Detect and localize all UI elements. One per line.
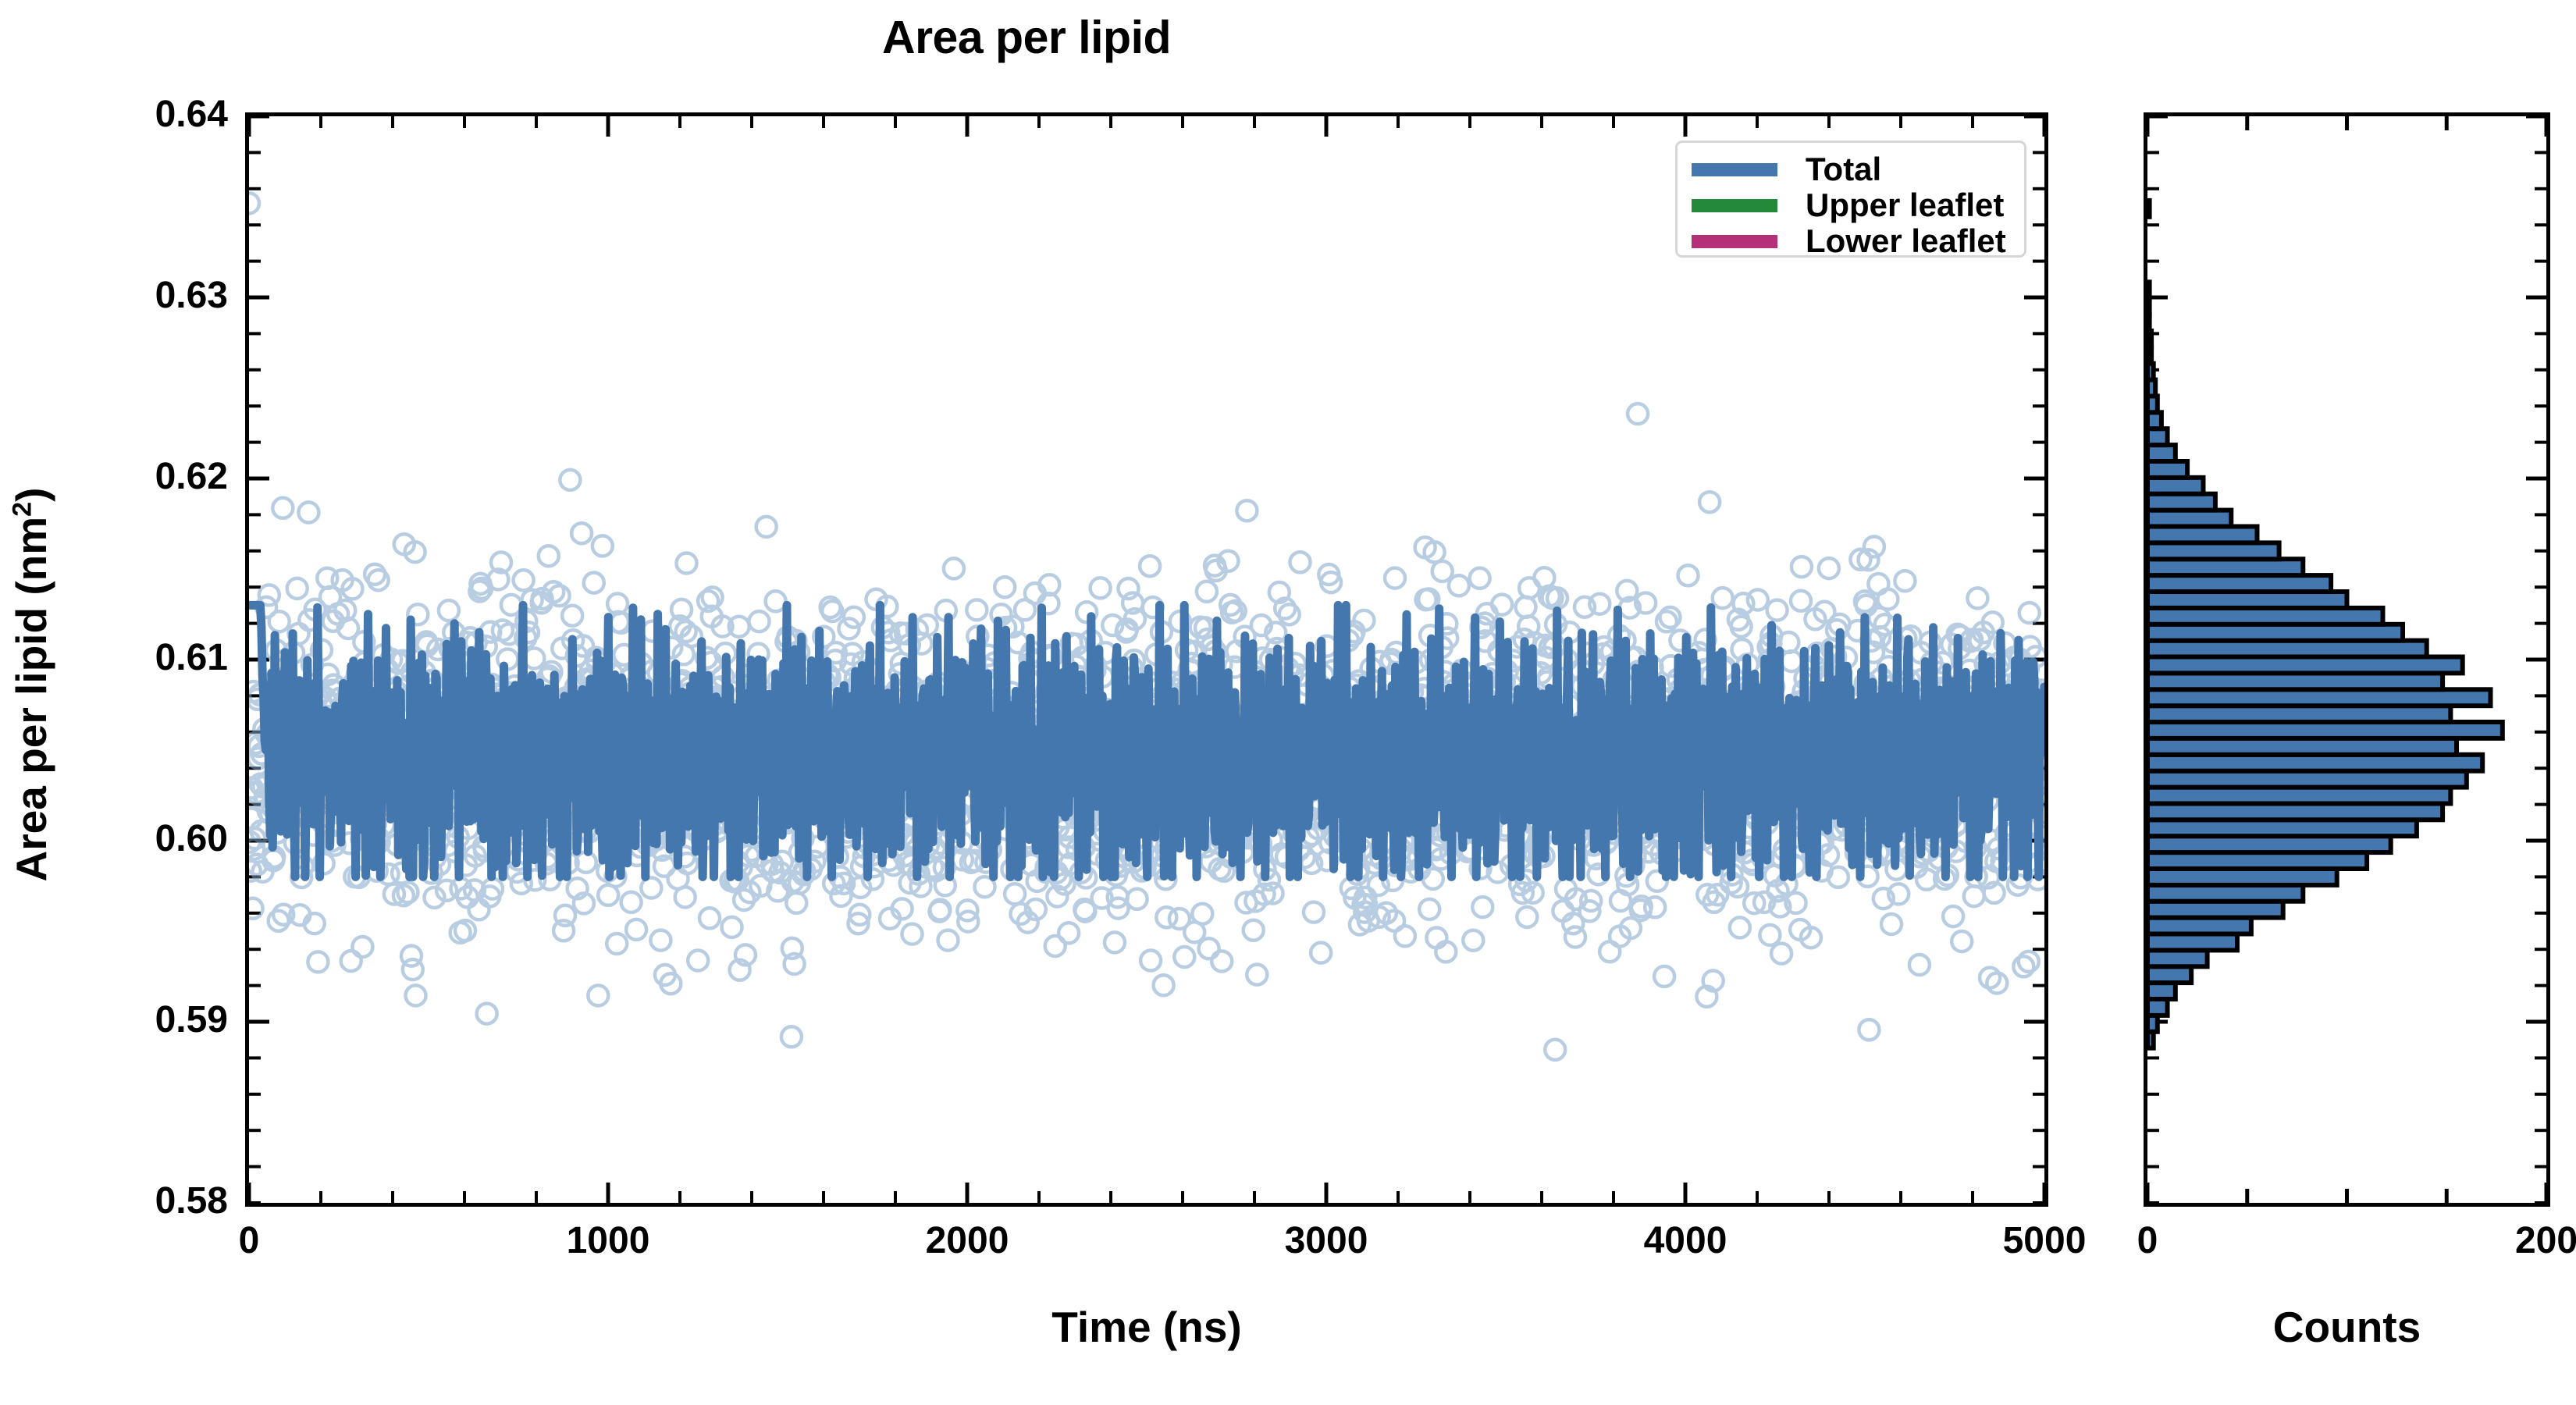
histogram-bars-svg: [2147, 116, 2546, 1203]
histogram-bar: [2147, 1016, 2158, 1032]
histogram-bar: [2147, 722, 2503, 738]
histogram-bar: [2147, 950, 2208, 966]
y-axis-title-exponent: 2: [8, 502, 37, 517]
histogram-bar: [2147, 999, 2168, 1016]
histogram-bar: [2147, 494, 2215, 510]
histogram-bar: [2147, 624, 2403, 641]
histogram-bar: [2147, 738, 2457, 755]
y-axis-title: Area per lipid (nm2): [6, 138, 56, 1231]
x-tick-label: 5000: [2003, 1219, 2087, 1262]
histogram-bar: [2147, 689, 2491, 706]
x-tick-label: 0: [239, 1219, 260, 1262]
y-tick-label: 0.58: [155, 1179, 228, 1222]
histogram-bar: [2147, 771, 2467, 788]
histogram-bar: [2147, 836, 2391, 852]
y-tick-label: 0.63: [155, 274, 228, 317]
histogram-x-tick-label: 0: [2137, 1219, 2158, 1262]
histogram-bar: [2147, 380, 2155, 397]
legend-label: Total: [1806, 154, 1881, 185]
legend-item[interactable]: Total: [1692, 154, 2010, 185]
x-tick-label: 4000: [1644, 1219, 1727, 1262]
histogram-bar: [2147, 412, 2161, 429]
legend-color-swatch: [1692, 163, 1777, 176]
histogram-bar: [2147, 347, 2151, 364]
histogram-bar: [2147, 575, 2331, 592]
histogram-bar: [2147, 315, 2150, 331]
histogram-bar: [2147, 788, 2450, 804]
histogram-bar: [2147, 852, 2367, 869]
main-plot-area: [249, 116, 2044, 1203]
x-tick-label: 2000: [926, 1219, 1009, 1262]
histogram-bar: [2147, 608, 2383, 624]
histogram-bar: [2147, 966, 2191, 983]
histogram-bar: [2147, 559, 2303, 575]
histogram-bar: [2147, 527, 2258, 543]
running-mean-line: [249, 605, 2044, 877]
histogram-bar: [2147, 755, 2482, 771]
legend-item[interactable]: Lower leaflet: [1692, 226, 2010, 257]
histogram-bar: [2147, 461, 2187, 478]
histogram-bar: [2147, 478, 2204, 494]
histogram-x-tick-label: 200: [2515, 1219, 2576, 1262]
x-axis-title: Time (ns): [245, 1302, 2048, 1352]
histogram-bar: [2147, 657, 2463, 674]
legend-label: Upper leaflet: [1806, 190, 2004, 221]
histogram-bar: [2147, 820, 2417, 836]
histogram-bar: [2147, 510, 2231, 527]
histogram-bar: [2147, 542, 2279, 559]
legend-label: Lower leaflet: [1806, 226, 2006, 257]
histogram-bars: [2147, 201, 2503, 1048]
histogram-bar: [2147, 1032, 2154, 1048]
y-tick-label: 0.59: [155, 998, 228, 1041]
x-tick-label: 1000: [567, 1219, 650, 1262]
histogram-bar: [2147, 902, 2283, 918]
histogram-bar: [2147, 918, 2251, 934]
y-tick-label: 0.60: [155, 817, 228, 860]
y-tick-label: 0.64: [155, 93, 228, 136]
histogram-bar: [2147, 983, 2176, 999]
histogram-axes: [2144, 112, 2550, 1207]
histogram-bar: [2147, 445, 2176, 461]
histogram-bar: [2147, 673, 2443, 689]
histogram-bar: [2147, 706, 2450, 722]
x-tick-label: 3000: [1285, 1219, 1368, 1262]
x-axis-tick-labels: 0100020003000400050000200: [0, 1219, 2576, 1274]
y-tick-label: 0.61: [155, 636, 228, 679]
histogram-bar: [2147, 364, 2154, 380]
histogram-bar: [2147, 641, 2427, 657]
legend-item[interactable]: Upper leaflet: [1692, 190, 2010, 221]
histogram-bar: [2147, 429, 2168, 445]
legend-color-swatch: [1692, 235, 1777, 248]
y-axis-title-text: Area per lipid (nm: [7, 517, 55, 882]
histogram-bar: [2147, 331, 2151, 347]
main-plot-axes: [245, 112, 2048, 1207]
histogram-bar: [2147, 592, 2347, 608]
legend-color-swatch: [1692, 199, 1777, 212]
figure-title: Area per lipid: [0, 11, 2053, 64]
histogram-bar: [2147, 885, 2303, 902]
histogram-bar: [2147, 201, 2150, 217]
histogram-bar: [2147, 869, 2337, 885]
histogram-bar: [2147, 282, 2150, 298]
histogram-x-axis-title: Counts: [2144, 1302, 2550, 1352]
histogram-bar: [2147, 934, 2237, 951]
scatter-and-line-svg: [249, 116, 2044, 1203]
y-tick-label: 0.62: [155, 455, 228, 498]
histogram-bar: [2147, 396, 2158, 412]
y-axis-title-tail: ): [7, 488, 55, 502]
figure-root: Area per lipid 0.640.630.620.610.600.590…: [0, 0, 2576, 1405]
histogram-plot-area: [2147, 116, 2546, 1203]
histogram-bar: [2147, 803, 2443, 820]
histogram-bar: [2147, 298, 2150, 315]
legend-box: TotalUpper leafletLower leaflet: [1675, 140, 2026, 258]
